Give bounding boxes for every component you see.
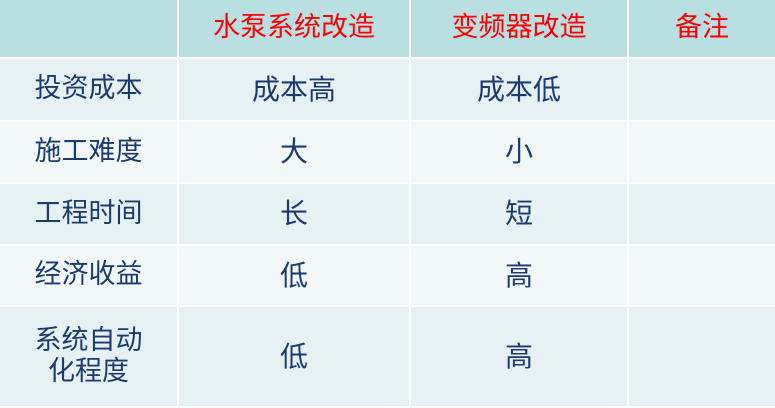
row-label-economic-benefit: 经济收益 [0,245,178,307]
cell-vfd-construction-difficulty: 小 [410,121,628,184]
table-row: 经济收益 低 高 [0,245,775,307]
row-label-investment-cost: 投资成本 [0,58,178,121]
table-row: 工程时间 长 短 [0,183,775,245]
cell-remarks-project-time [628,183,775,245]
row-label-project-time: 工程时间 [0,183,178,245]
cell-vfd-project-time: 短 [410,183,628,245]
cell-remarks-economic-benefit [628,245,775,307]
table-header: 水泵系统改造 变频器改造 备注 [0,0,775,58]
cell-pump-system-project-time: 长 [178,183,410,245]
column-header-vfd: 变频器改造 [410,0,628,58]
cell-remarks-system-automation [628,306,775,407]
cell-remarks-construction-difficulty [628,121,775,184]
cell-pump-system-system-automation: 低 [178,306,410,407]
cell-vfd-system-automation: 高 [410,306,628,407]
cell-pump-system-construction-difficulty: 大 [178,121,410,184]
cell-pump-system-investment-cost: 成本高 [178,58,410,121]
cell-pump-system-economic-benefit: 低 [178,245,410,307]
cell-vfd-economic-benefit: 高 [410,245,628,307]
row-label-system-automation-line2: 化程度 [0,357,177,387]
comparison-table: 水泵系统改造 变频器改造 备注 投资成本 成本高 成本低 施工难度 大 小 工程… [0,0,775,408]
column-header-remarks: 备注 [628,0,775,58]
cell-vfd-investment-cost: 成本低 [410,58,628,121]
table-body: 投资成本 成本高 成本低 施工难度 大 小 工程时间 长 短 经济收益 低 高 … [0,58,775,407]
cell-remarks-investment-cost [628,58,775,121]
table-row: 投资成本 成本高 成本低 [0,58,775,121]
header-row: 水泵系统改造 变频器改造 备注 [0,0,775,58]
row-label-system-automation: 系统自动 化程度 [0,306,178,407]
column-header-pump-system: 水泵系统改造 [178,0,410,58]
column-header-criterion [0,0,178,58]
table-row: 施工难度 大 小 [0,121,775,184]
table-row: 系统自动 化程度 低 高 [0,306,775,407]
row-label-system-automation-line1: 系统自动 [0,326,177,356]
row-label-construction-difficulty: 施工难度 [0,121,178,184]
